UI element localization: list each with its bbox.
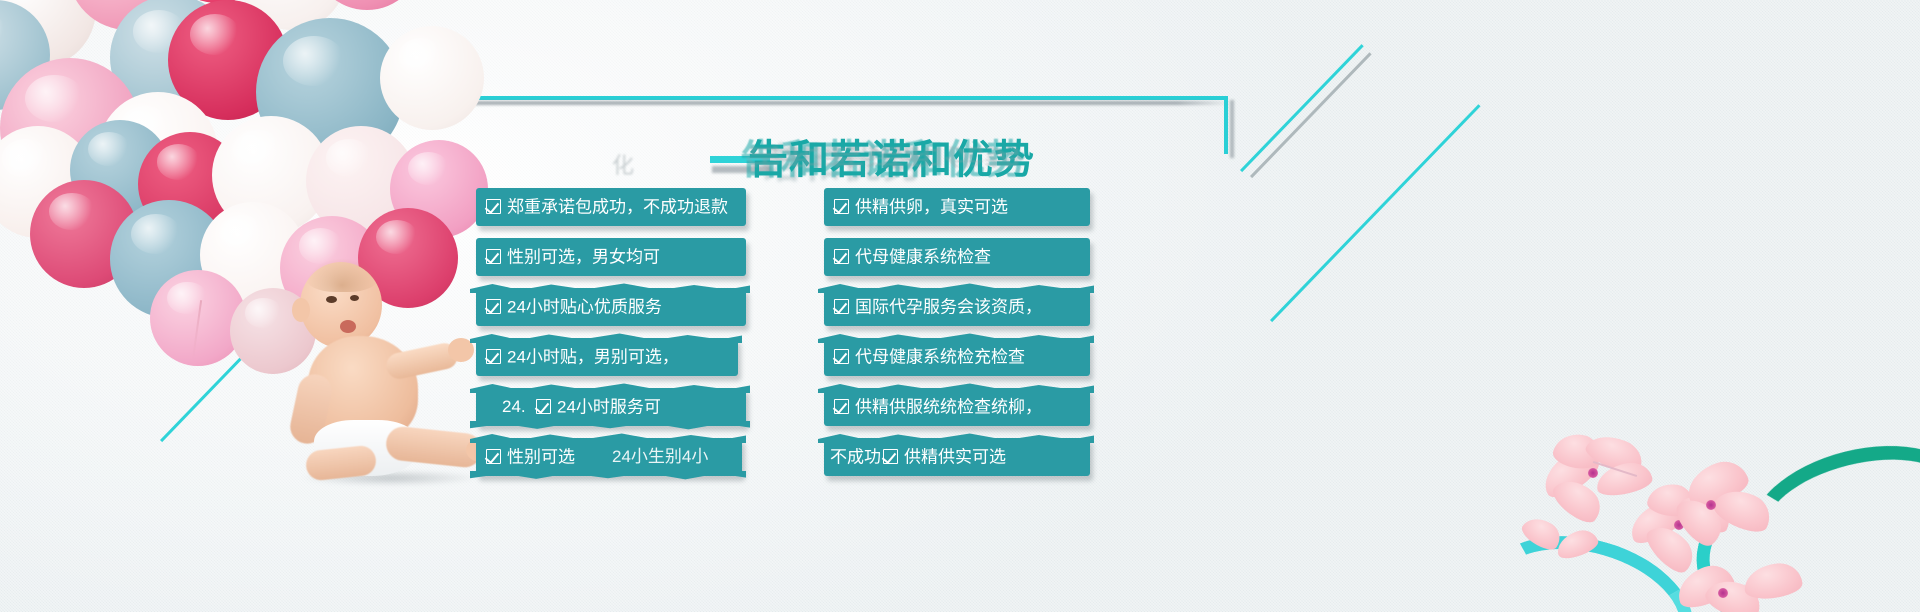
benefit-fragment: 24小生别4小 [612, 438, 708, 476]
diagonal-accent-bottom-left [160, 303, 294, 442]
section-title: 诺和优势 告和若诺和优势 告和若诺和优势 告和若诺和优势 [700, 126, 1220, 192]
baby-photo [290, 262, 490, 492]
benefit-item[interactable]: 不成功供精供实可选 [824, 438, 1090, 476]
benefit-label: 代母健康系统检充检查 [855, 348, 1025, 367]
left-benefit-column: 郑重承诺包成功，不成功退款 性别可选，男女均可 24小时贴心优质服务 24小时贴… [476, 188, 746, 476]
baby-photo-shadow [300, 470, 480, 486]
benefit-item[interactable]: 性别可选，男女均可 [476, 238, 746, 276]
benefit-label: 供精供卵，真实可选 [855, 198, 1008, 217]
benefit-label: 供精供实可选 [904, 448, 1006, 467]
check-box-icon [486, 449, 501, 464]
glitch-smear [586, 434, 746, 480]
benefit-label: 供精供服统统检查统柳， [855, 398, 1042, 417]
benefit-label: 代母健康系统检查 [855, 248, 991, 267]
check-box-icon [486, 199, 501, 214]
frame-left-line [350, 96, 354, 216]
diagonal-accent-top-right-1 [1240, 44, 1364, 172]
benefit-label: 国际代孕服务会该资质， [855, 298, 1042, 317]
benefit-label: 24小时贴心优质服务 [507, 298, 662, 317]
benefit-item[interactable]: 24小时贴心优质服务 [476, 288, 746, 326]
check-box-icon [883, 449, 898, 464]
benefit-item[interactable]: 代母健康系统检充检查 [824, 338, 1090, 376]
check-box-icon [834, 299, 849, 314]
check-box-icon [834, 199, 849, 214]
frame-right-line [1224, 96, 1228, 154]
benefit-item[interactable]: 国际代孕服务会该资质， [824, 288, 1090, 326]
check-box-icon [834, 399, 849, 414]
check-box-icon [486, 349, 501, 364]
frame-top-line-shadow [352, 101, 1230, 105]
frame-top-line [350, 96, 1228, 100]
benefit-fragment: 不成功 [830, 448, 881, 467]
diagonal-accent-grey [1250, 52, 1372, 178]
right-benefit-column: 供精供卵，真实可选 代母健康系统检查 国际代孕服务会该资质， 代母健康系统检充检… [824, 188, 1090, 476]
check-box-icon [834, 349, 849, 364]
benefit-label: 郑重承诺包成功，不成功退款 [507, 198, 728, 217]
section-title-reflection: 告和若诺和优势 [744, 142, 1024, 174]
benefit-item[interactable]: 代母健康系统检查 [824, 238, 1090, 276]
check-box-icon [486, 249, 501, 264]
benefit-label: 24小时服务可 [557, 398, 661, 417]
balloon-string [192, 300, 202, 360]
balloon-cluster [0, 0, 430, 360]
diagonal-accent-top-right-2 [1270, 104, 1481, 322]
benefit-label: 24小时贴，男别可选， [507, 348, 679, 367]
benefit-label: 性别可选 [507, 448, 575, 467]
diagonal-accent-top-left [330, 206, 422, 302]
benefit-item[interactable]: 性别可选 24小生别4小 [476, 438, 742, 476]
promo-banner: 诺和优势 告和若诺和优势 告和若诺和优势 告和若诺和优势 化 郑重承诺包成功，不… [0, 0, 1920, 612]
benefit-label: 性别可选，男女均可 [507, 248, 660, 267]
benefit-item[interactable]: 供精供卵，真实可选 [824, 188, 1090, 226]
benefit-item[interactable]: 供精供服统统检查统柳， [824, 388, 1090, 426]
check-box-icon [834, 249, 849, 264]
benefit-fragment: 24. [502, 388, 526, 426]
frame-right-line-shadow [1230, 100, 1234, 158]
flower-ribbon-decor [1500, 372, 1920, 612]
benefit-item[interactable]: 郑重承诺包成功，不成功退款 [476, 188, 746, 226]
title-artefact: 化 [612, 148, 634, 180]
check-box-icon [536, 399, 551, 414]
check-box-icon [486, 299, 501, 314]
benefit-item[interactable]: 24. 24小时服务可 [476, 388, 746, 426]
benefit-item[interactable]: 24小时贴，男别可选， [476, 338, 738, 376]
